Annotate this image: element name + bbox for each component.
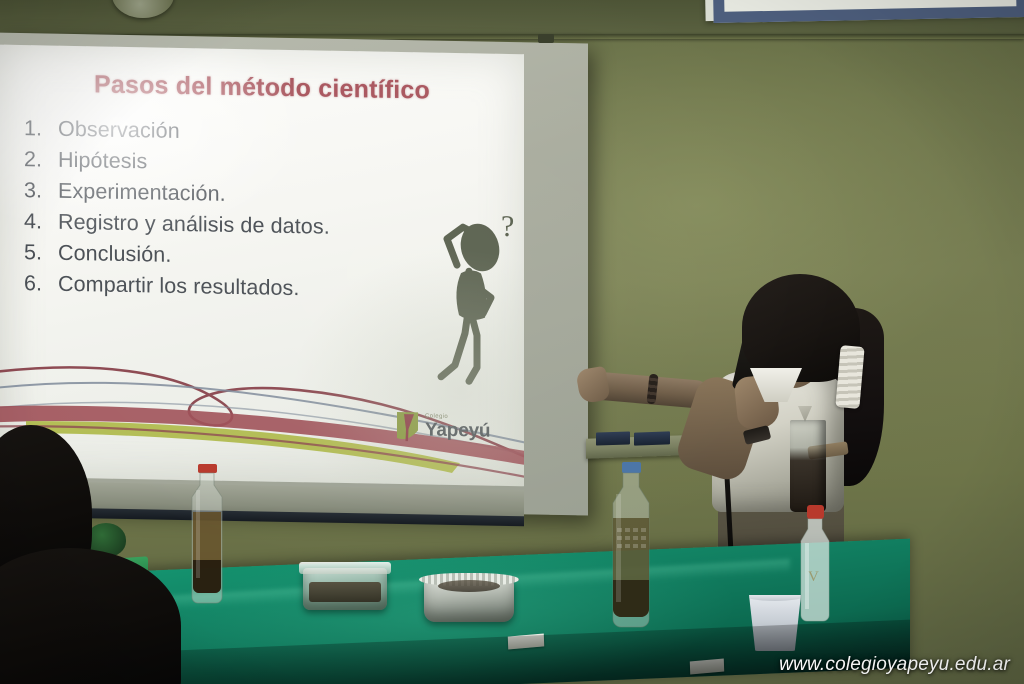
step-label: Compartir los resultados. (58, 269, 299, 304)
step-label: Observación (58, 114, 180, 147)
foil-tray-soil (424, 578, 514, 622)
plastic-container-soil (303, 568, 387, 610)
list-item: 6. Compartir los resultados. (24, 268, 434, 307)
logo-wordmark: Colegio Yapeyú (425, 413, 490, 440)
bottle-dark-liquid (183, 464, 231, 610)
water-bottle-red-cap: V (795, 505, 835, 623)
step-number: 6. (24, 268, 58, 300)
step-label: Registro y análisis de datos. (58, 207, 330, 243)
colegio-yapeyu-logo: Colegio Yapeyú (395, 410, 490, 444)
logo-big-text: Yapeyú (425, 420, 490, 440)
scientific-method-steps-list: 1. Observación 2. Hipótesis 3. Experimen… (24, 113, 434, 307)
whiteboard-marker (596, 431, 630, 445)
glass-jar-dark-contents (790, 420, 826, 512)
whiteboard-marker (634, 431, 670, 445)
website-watermark: www.colegioyapeyu.edu.ar (779, 654, 1010, 676)
bottle-large-blue-cap (603, 462, 659, 628)
foil-tray-soil-contents (438, 580, 500, 592)
svg-text:?: ? (501, 210, 514, 243)
step-number: 4. (24, 206, 58, 238)
projection-whiteboard: Pasos del método científico 1. Observaci… (0, 33, 588, 516)
container-lid (299, 562, 391, 574)
step-number: 5. (24, 237, 58, 269)
step-number: 3. (24, 175, 58, 207)
svg-text:V: V (808, 569, 819, 585)
step-label: Experimentación. (58, 176, 226, 210)
step-number: 1. (24, 113, 58, 145)
slide-title: Pasos del método científico (0, 69, 524, 108)
presentation-photo-scene: Pasos del método científico 1. Observaci… (0, 0, 1024, 684)
board-clip-icon (538, 34, 554, 43)
projected-slide: Pasos del método científico 1. Observaci… (0, 45, 524, 487)
step-label: Conclusión. (58, 238, 171, 271)
step-number: 2. (24, 144, 58, 176)
container-soil (309, 582, 381, 602)
step-label: Hipótesis (58, 145, 147, 178)
yapeyu-shield-icon (395, 410, 420, 442)
